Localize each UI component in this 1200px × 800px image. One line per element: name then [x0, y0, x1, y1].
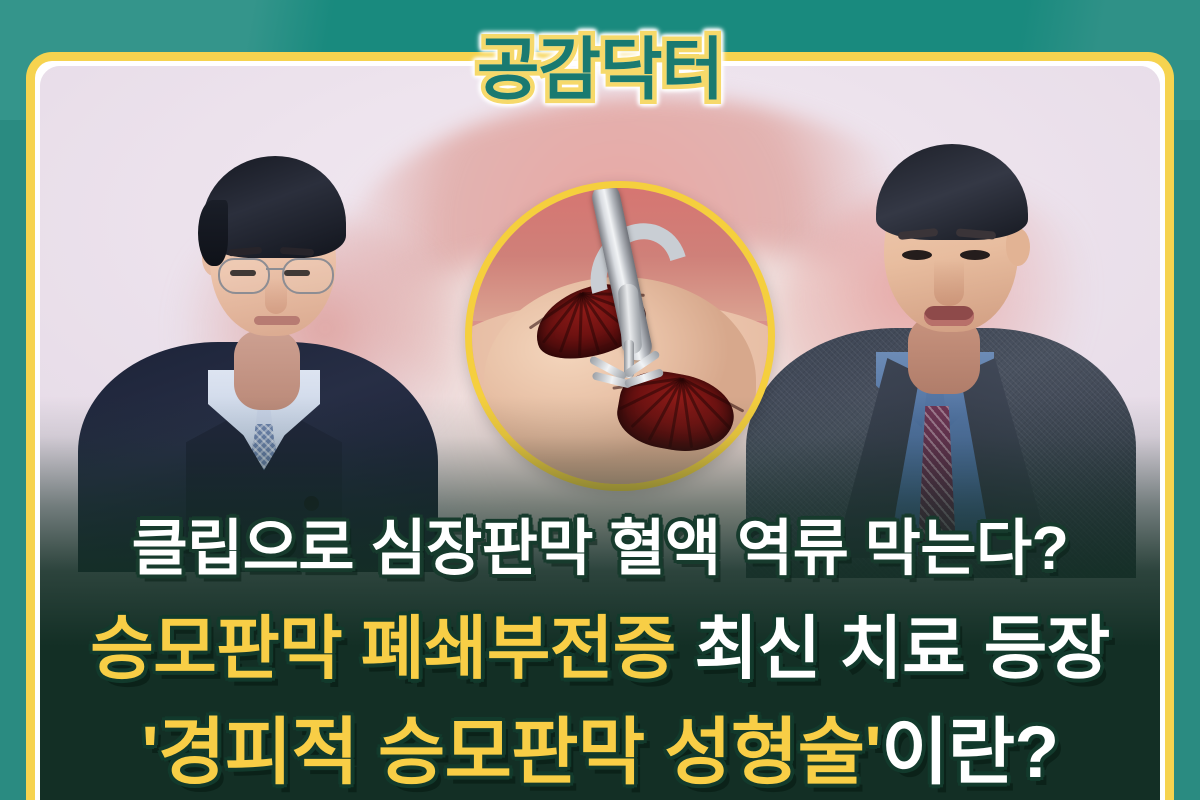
content-frame-inner: 클립으로 심장판막 혈액 역류 막는다? 승모판막 폐쇄부전증 최신 치료 등장…: [40, 66, 1160, 800]
doctor-right-eye: [902, 250, 932, 260]
headline-line-2-rest: 최신 치료 등장: [676, 610, 1110, 687]
content-frame: 클립으로 심장판막 혈액 역류 막는다? 승모판막 폐쇄부전증 최신 치료 등장…: [26, 52, 1174, 800]
doctor-left-mouth: [254, 316, 300, 325]
headline-line-3: '경피적 승모판막 성형술'이란?: [40, 716, 1160, 789]
glasses-bridge: [266, 268, 284, 270]
headline-line-3-highlight: '경피적 승모판막 성형술': [141, 712, 881, 793]
brand-logo: 공감닥터: [0, 14, 1200, 113]
studio-stage: 클립으로 심장판막 혈액 역류 막는다? 승모판막 폐쇄부전증 최신 치료 등장…: [40, 66, 1160, 800]
headline-line-2: 승모판막 폐쇄부전증 최신 치료 등장: [40, 614, 1160, 683]
glasses-lens: [218, 258, 270, 294]
glasses-lens: [282, 258, 334, 294]
doctor-left-hair-side: [198, 200, 228, 266]
doctor-right-nose: [934, 260, 964, 306]
youtube-thumbnail: 클립으로 심장판막 혈액 역류 막는다? 승모판막 폐쇄부전증 최신 치료 등장…: [0, 0, 1200, 800]
glasses-icon: [216, 258, 336, 294]
doctor-right-hair: [876, 144, 1028, 240]
headline-line-2-highlight: 승모판막 폐쇄부전증: [90, 610, 676, 687]
headline-line-3-rest: 이란?: [881, 712, 1058, 793]
doctor-right-eye: [960, 250, 990, 260]
doctor-right-mouth: [924, 306, 974, 326]
headline-line-1: 클립으로 심장판막 혈액 역류 막는다?: [40, 518, 1160, 579]
